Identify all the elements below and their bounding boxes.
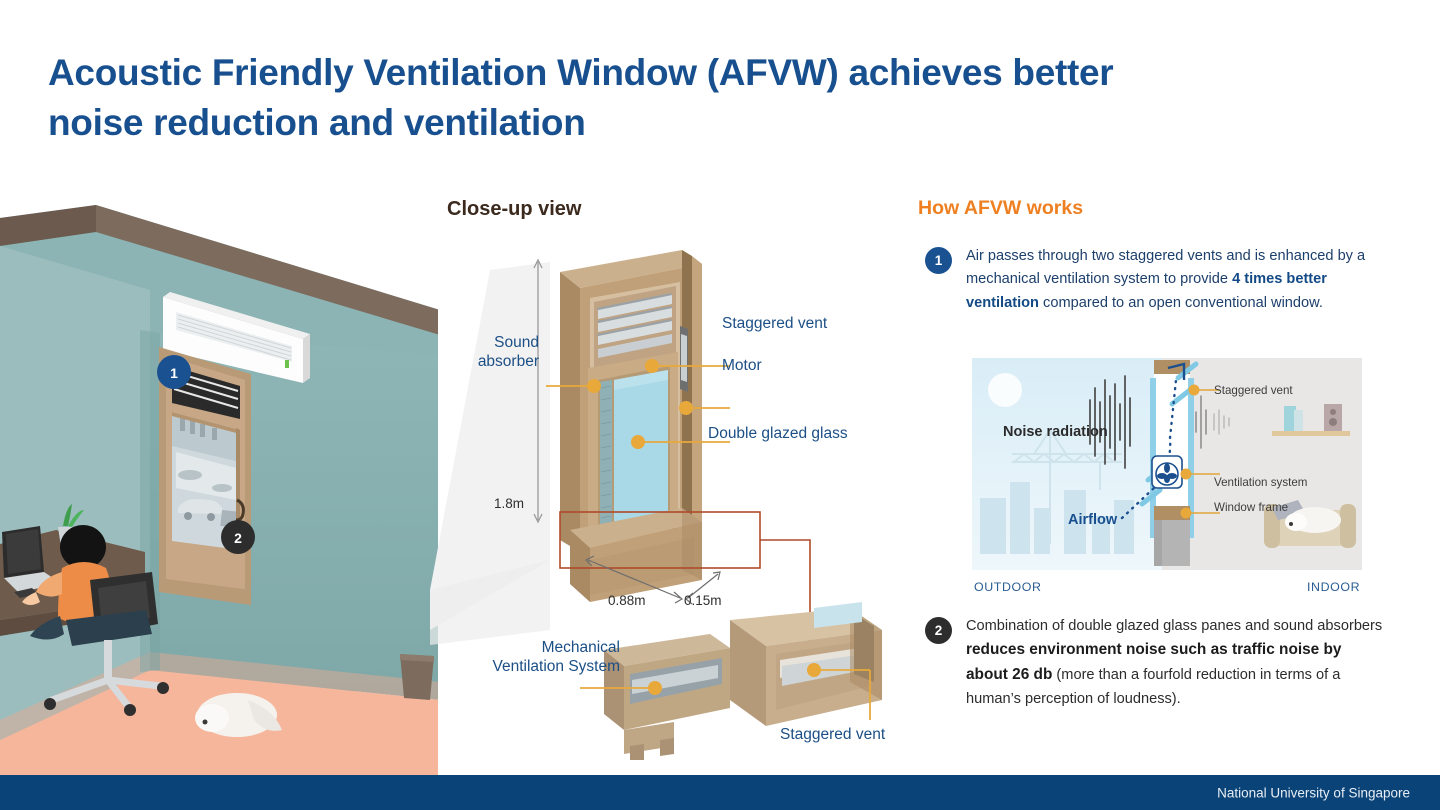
diagram-callout-ventilation-system: Ventilation system	[1214, 476, 1307, 489]
footer-organisation: National University of Singapore	[1217, 785, 1410, 800]
svg-text:1: 1	[170, 365, 178, 381]
room-marker-1: 1	[157, 355, 191, 389]
room-illustration: 1 2	[0, 200, 440, 775]
diagram-callout-window-frame: Window frame	[1214, 501, 1288, 514]
dimension-width: 0.88m	[608, 593, 646, 608]
closeup-illustration	[430, 230, 900, 760]
diagram-noise-label: Noise radiation	[1003, 424, 1108, 440]
sun-icon	[988, 373, 1022, 407]
diagram-zone-indoor: INDOOR	[1307, 580, 1360, 594]
wastebasket	[400, 654, 434, 700]
label-staggered-vent-bottom: Staggered vent	[780, 725, 885, 744]
step-2-badge: 2	[925, 617, 952, 644]
step-2-text: Combination of double glazed glass panes…	[966, 615, 1385, 711]
window-assembly	[560, 250, 702, 602]
mvs-unit	[604, 634, 730, 760]
closeup-heading: Close-up view	[447, 198, 581, 221]
label-mechanical-ventilation-system: Mechanical Ventilation System	[460, 638, 620, 677]
label-staggered-vent: Staggered vent	[722, 314, 827, 333]
infographic-page: Acoustic Friendly Ventilation Window (AF…	[0, 0, 1440, 810]
afvw-cross-section-diagram	[972, 358, 1362, 570]
step-1-text: Air passes through two staggered vents a…	[966, 245, 1385, 315]
step-1-badge: 1	[925, 247, 952, 274]
step-2: 2 Combination of double glazed glass pan…	[925, 615, 1385, 711]
ventilation-fan-icon	[1152, 456, 1182, 488]
label-double-glazed-glass: Double glazed glass	[708, 424, 848, 443]
diagram-callout-staggered-vent: Staggered vent	[1214, 384, 1293, 397]
label-motor: Motor	[722, 356, 762, 375]
label-sound-absorber: Sound absorber	[455, 333, 539, 372]
how-it-works-heading: How AFVW works	[918, 197, 1083, 220]
dimension-depth: 0.15m	[684, 593, 722, 608]
step-1: 1 Air passes through two staggered vents…	[925, 245, 1385, 315]
diagram-airflow-label: Airflow	[1068, 512, 1117, 528]
dimension-height: 1.8m	[494, 496, 524, 511]
motor-component	[680, 326, 688, 392]
diagram-zone-outdoor: OUTDOOR	[974, 580, 1042, 594]
page-title: Acoustic Friendly Ventilation Window (AF…	[48, 48, 1198, 147]
svg-text:2: 2	[234, 530, 242, 546]
room-marker-2: 2	[221, 520, 255, 554]
footer-bar: National University of Singapore	[0, 775, 1440, 810]
